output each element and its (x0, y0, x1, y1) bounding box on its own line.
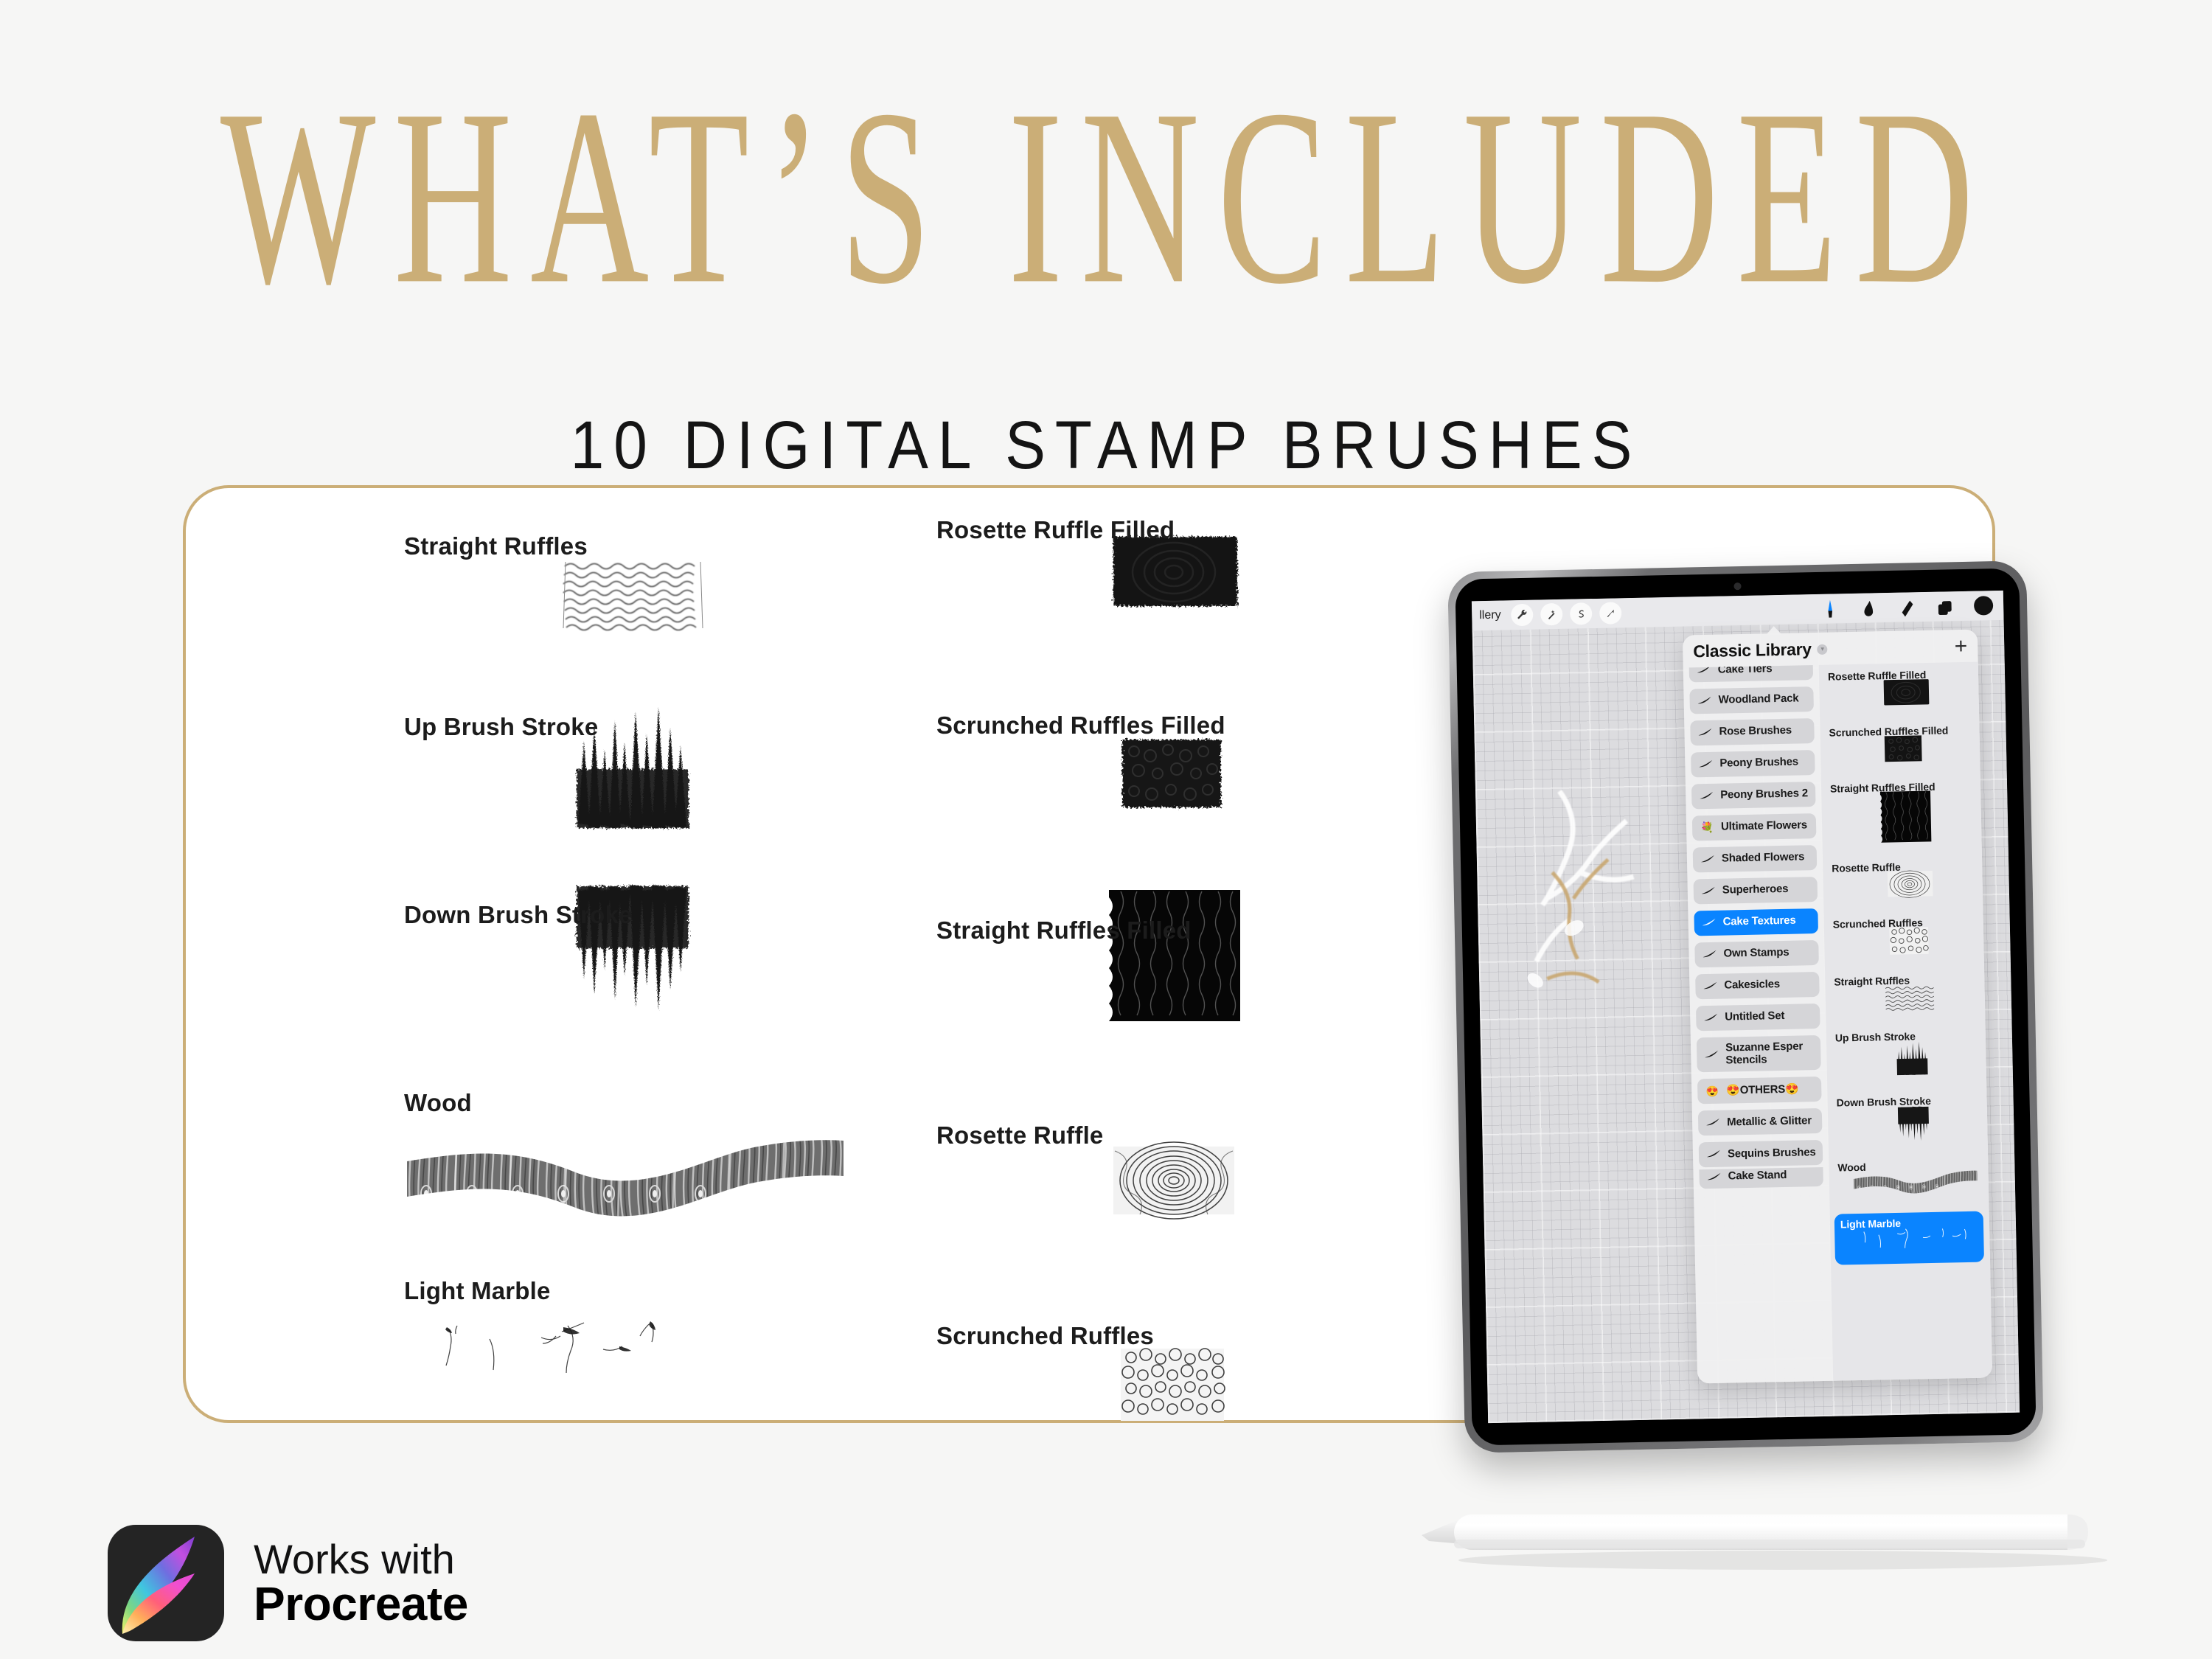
brush-set-list[interactable]: Cake TiersWoodland PackRose BrushesPeony… (1683, 665, 1833, 1383)
brush-label: Rosette Ruffle Filled (936, 516, 1467, 544)
brush-label: Wood (404, 1089, 920, 1117)
brush-set-label: Cakesicles (1724, 978, 1780, 992)
heart-eyes-emoji: 😍 (1704, 1085, 1720, 1098)
brush-preview-down-brush-stroke (1882, 1103, 1980, 1147)
brush-showcase-item: Straight Ruffles Filled (936, 917, 1467, 1121)
brush-label: Light Marble (404, 1277, 920, 1305)
brush-set-label: Peony Brushes 2 (1720, 788, 1808, 802)
brush-preview-rosette-ruffle-filled (1874, 677, 1972, 712)
brush-art-light-marble (416, 1317, 920, 1405)
brush-set-item[interactable]: Peony Brushes 2 (1691, 782, 1816, 809)
brush-label: Scrunched Ruffles Filled (936, 712, 1467, 740)
brush-stroke-icon (1700, 886, 1717, 897)
brush-list-item[interactable]: Straight Ruffles Filled (1830, 780, 1975, 849)
brush-art-down-brush-stroke (562, 876, 920, 1016)
brush-stroke-icon (1705, 1117, 1721, 1129)
procreate-logo-icon (108, 1525, 224, 1641)
brush-set-label: Cake Stand (1728, 1169, 1787, 1183)
brush-library-popover: Classic Library ▾ + Cake TiersWoodland P… (1683, 630, 1992, 1384)
brush-stroke-icon (1705, 1171, 1722, 1183)
brush-label: Straight Ruffles Filled (936, 917, 1467, 945)
brush-list[interactable]: Rosette Ruffle FilledScrunched Ruffles F… (1819, 662, 1992, 1381)
brush-list-item[interactable]: Straight Ruffles (1834, 973, 1978, 1018)
brush-set-label: Woodland Pack (1718, 693, 1798, 707)
brush-preview-light-marble (1840, 1225, 1978, 1261)
brush-set-label: Rose Brushes (1719, 725, 1792, 739)
brush-showcase-item: Rosette Ruffle Filled (936, 516, 1467, 712)
apple-pencil (1399, 1504, 2152, 1571)
brush-stroke-icon (1696, 665, 1712, 677)
brush-stroke-icon (1701, 949, 1717, 961)
selection-icon[interactable] (1570, 602, 1593, 625)
brush-set-label: Ultimate Flowers (1721, 820, 1807, 834)
brush-art-scrunched-ruffles-filled (1109, 734, 1467, 815)
brush-stroke-icon (1705, 1149, 1722, 1161)
brush-list-item[interactable]: Rosette Ruffle (1832, 860, 1975, 905)
brush-showcase-item: Wood (404, 1089, 920, 1277)
brush-preview-straight-ruffles-filled (1876, 789, 1975, 848)
brush-stroke-icon (1698, 790, 1714, 802)
brush-set-label: Cake Tiers (1718, 665, 1773, 677)
brush-stroke-icon (1702, 981, 1718, 992)
brush-art-scrunched-ruffles (1110, 1343, 1467, 1427)
brush-list-item[interactable]: Down Brush Stroke (1836, 1094, 1980, 1148)
page-title: WHAT’S INCLUDED (77, 71, 2135, 322)
brush-list-item[interactable]: Wood (1837, 1159, 1981, 1200)
brush-set-item[interactable]: Peony Brushes (1691, 750, 1815, 777)
brush-icon[interactable] (1820, 597, 1840, 620)
flower-bouquet-emoji: 💐 (1699, 821, 1715, 834)
works-with-label: Works with (254, 1538, 468, 1580)
brush-showcase-right-column: Rosette Ruffle Filled Scrunched Ruffles … (936, 516, 1467, 1492)
brush-set-item[interactable]: Rose Brushes (1690, 718, 1815, 745)
brush-set-label: Cake Textures (1723, 915, 1796, 929)
brush-set-label: Untitled Set (1725, 1010, 1784, 1023)
color-swatch[interactable] (1974, 596, 1994, 616)
brush-set-item[interactable]: Metallic & Glitter (1698, 1108, 1823, 1135)
brush-set-item[interactable]: Woodland Pack (1689, 686, 1814, 714)
brush-stroke-icon (1703, 1048, 1719, 1060)
brush-set-item[interactable]: Cake Textures (1694, 908, 1818, 936)
brush-showcase-item: Down Brush Stroke (404, 901, 920, 1089)
brush-showcase-item: Rosette Ruffle (936, 1121, 1467, 1322)
brush-set-label: 😍OTHERS😍 (1726, 1084, 1799, 1098)
brush-preview-rosette-ruffle (1877, 869, 1975, 904)
brush-list-item[interactable]: Light Marble (1834, 1211, 1984, 1265)
brush-set-label: Metallic & Glitter (1727, 1115, 1812, 1129)
brush-set-label: Superheroes (1722, 883, 1789, 897)
brush-set-label: Own Stamps (1723, 947, 1789, 961)
smudge-icon[interactable] (1859, 597, 1879, 619)
ipad-body: llery (1447, 560, 2044, 1453)
brush-art-wood (404, 1130, 920, 1219)
procreate-label: Procreate (254, 1580, 468, 1628)
brush-set-item[interactable]: Own Stamps (1694, 940, 1819, 967)
brush-label: Rosette Ruffle (936, 1121, 1467, 1150)
brush-stroke-icon (1703, 1012, 1719, 1024)
brush-showcase-left-column: Straight Ruffles Up Brush S (404, 532, 920, 1425)
brush-list-item[interactable]: Rosette Ruffle Filled (1828, 668, 1972, 713)
brush-list-item[interactable]: Scrunched Ruffles Filled (1829, 724, 1972, 769)
brush-showcase-item: Light Marble (404, 1277, 920, 1425)
brush-set-item[interactable]: Shaded Flowers (1693, 845, 1818, 872)
brush-set-item[interactable]: Superheroes (1694, 877, 1818, 904)
gallery-button[interactable]: llery (1479, 609, 1501, 623)
brush-set-item[interactable]: Suzanne Esper Stencils (1697, 1035, 1821, 1073)
brush-set-label: Shaded Flowers (1722, 852, 1805, 866)
brush-label: Straight Ruffles (404, 532, 920, 560)
brush-set-item[interactable]: Untitled Set (1696, 1004, 1820, 1031)
brush-preview-up-brush-stroke (1881, 1038, 1979, 1082)
brush-stroke-icon (1700, 854, 1716, 866)
brush-set-item[interactable]: 💐Ultimate Flowers (1692, 813, 1817, 841)
brush-preview-straight-ruffles (1879, 982, 1978, 1018)
brush-set-label: Peony Brushes (1719, 757, 1798, 771)
brush-label: Up Brush Stroke (404, 713, 920, 741)
wrench-icon[interactable] (1511, 604, 1534, 627)
brush-set-item[interactable]: Cake Stand (1699, 1167, 1823, 1189)
brush-stroke-icon (1697, 727, 1713, 739)
brush-stroke-icon (1701, 917, 1717, 929)
ipad-device: llery (1447, 560, 2044, 1453)
brush-set-label: Sequins Brushes (1728, 1147, 1816, 1161)
brush-set-item[interactable]: Cakesicles (1695, 972, 1820, 999)
brush-set-item[interactable]: 😍😍OTHERS😍 (1697, 1077, 1822, 1104)
brush-showcase-item: Scrunched Ruffles (936, 1322, 1467, 1492)
procreate-app: llery (1472, 591, 2020, 1423)
layers-icon[interactable] (1935, 595, 1955, 618)
brush-art-rosette-ruffle (1109, 1141, 1467, 1222)
brush-label: Scrunched Ruffles (936, 1322, 1467, 1350)
brush-set-item[interactable]: Sequins Brushes (1699, 1140, 1823, 1167)
ipad-screen: llery (1455, 568, 2036, 1445)
brush-art-straight-ruffles (560, 554, 920, 636)
page-header: WHAT’S INCLUDED 10 DIGITAL STAMP BRUSHES (0, 0, 2212, 481)
page-subtitle: 10 DIGITAL STAMP BRUSHES (0, 407, 2212, 484)
brush-preview-scrunched-ruffles-filled (1875, 733, 1973, 768)
brush-set-label: Suzanne Esper Stencils (1725, 1040, 1815, 1067)
magic-wand-icon[interactable] (1540, 603, 1563, 626)
brush-stroke-icon (1697, 695, 1713, 707)
chevron-down-icon[interactable]: ▾ (1818, 644, 1828, 654)
brush-art-rosette-ruffle-filled (1109, 532, 1467, 613)
transform-icon[interactable] (1599, 602, 1622, 625)
brush-showcase-item: Scrunched Ruffles Filled (936, 712, 1467, 917)
brush-stroke-icon (1697, 759, 1714, 771)
brush-showcase-item: Straight Ruffles (404, 532, 920, 713)
add-brush-set-button[interactable]: + (1954, 638, 1967, 654)
brush-list-item[interactable]: Scrunched Ruffles (1833, 916, 1977, 962)
popover-arrow (1766, 626, 1782, 635)
works-with-procreate-badge: Works with Procreate (108, 1525, 468, 1641)
brush-library-title: Classic Library (1693, 639, 1812, 661)
front-camera-icon (1733, 582, 1741, 590)
brush-list-item[interactable]: Up Brush Stroke (1835, 1029, 1979, 1083)
eraser-icon[interactable] (1897, 596, 1917, 619)
brush-preview-scrunched-ruffles (1879, 925, 1977, 961)
brush-set-item[interactable]: Cake Tiers (1689, 665, 1813, 682)
brush-library-header: Classic Library ▾ + (1683, 630, 1978, 667)
brush-showcase-item: Up Brush Stroke (404, 713, 920, 901)
brush-art-straight-ruffles-filled (1100, 887, 1467, 1024)
brush-label: Down Brush Stroke (404, 901, 920, 929)
